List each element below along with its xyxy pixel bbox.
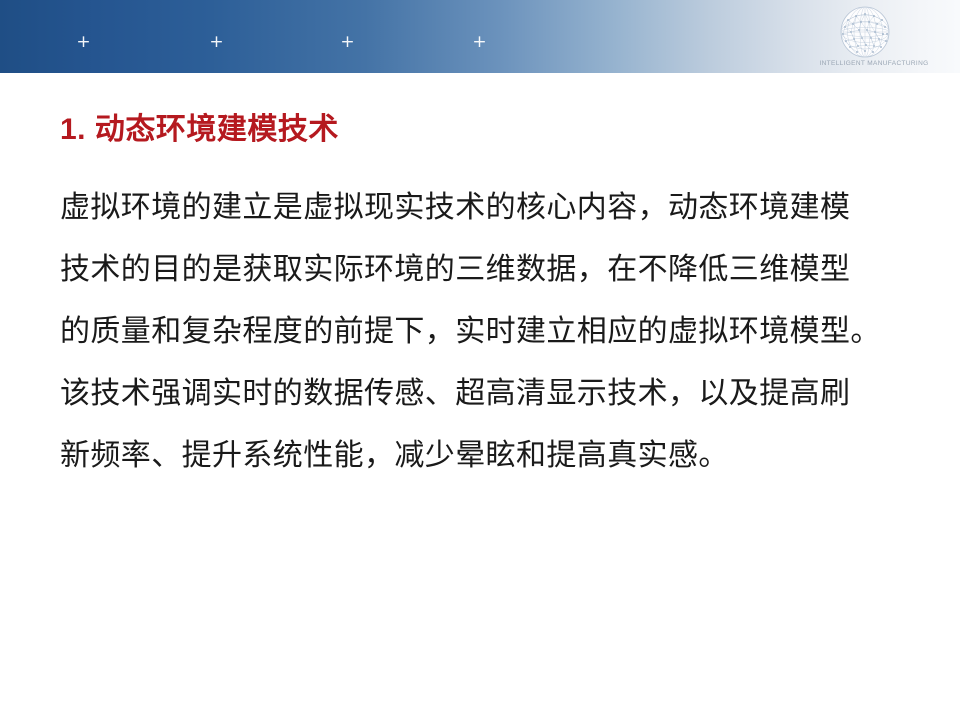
body-line: 的质量和复杂程度的前提下，实时建立相应的虚拟环境模型。 [60,301,930,363]
logo-caption: INTELLIGENT MANUFACTURING [812,60,936,67]
plus-decoration-icon: + [472,35,487,50]
brand-logo: INTELLIGENT MANUFACTURING [836,6,960,70]
plus-decoration-icon: + [209,35,224,50]
page-title: 1. 动态环境建模技术 [60,104,339,148]
plus-decoration-icon: + [340,35,355,50]
body-line: 虚拟环境的建立是虚拟现实技术的核心内容，动态环境建模 [60,177,930,239]
body-line: 技术的目的是获取实际环境的三维数据，在不降低三维模型 [60,239,930,301]
body-line: 新频率、提升系统性能，减少晕眩和提高真实感。 [60,425,930,487]
presentation-slide: + + + + [0,0,960,720]
plus-decoration-icon: + [76,35,91,50]
body-line: 该技术强调实时的数据传感、超高清显示技术，以及提高刷 [60,363,930,425]
body-paragraph: 虚拟环境的建立是虚拟现实技术的核心内容，动态环境建模 技术的目的是获取实际环境的… [60,177,930,487]
slide-header-band: + + + + [0,0,960,73]
mesh-sphere-icon [838,6,892,58]
